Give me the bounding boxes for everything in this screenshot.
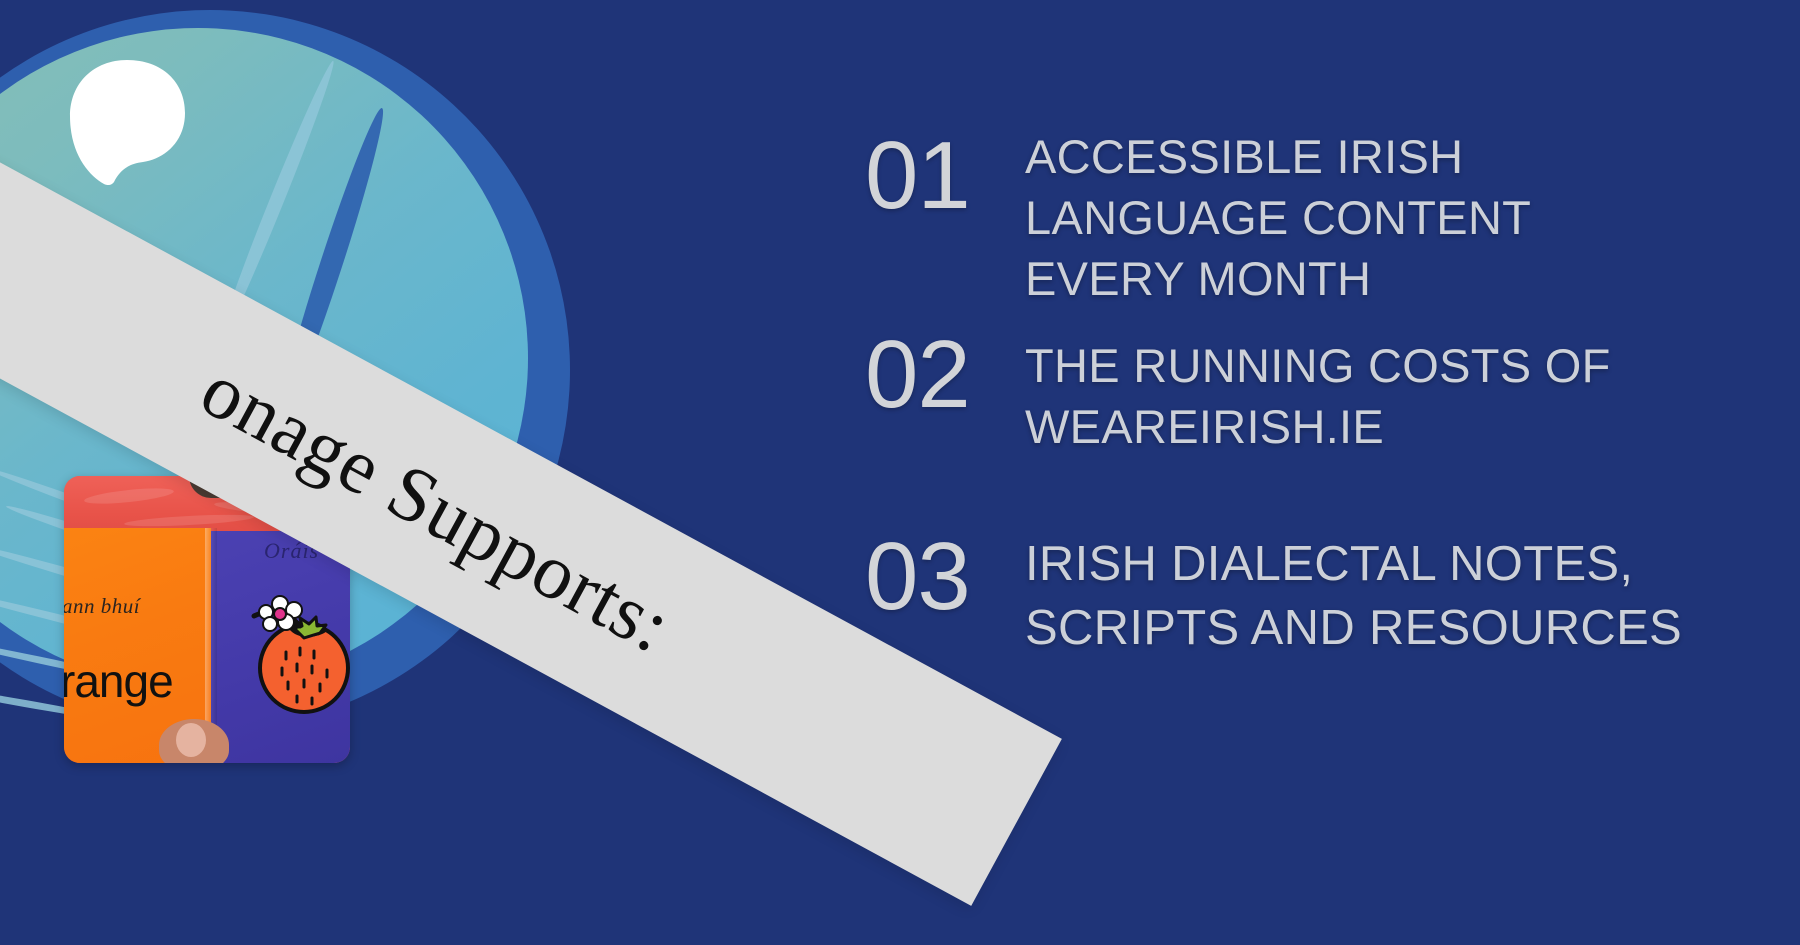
list-item-text: ACCESSIBLE IRISH LANGUAGE CONTENT EVERY … [1025, 118, 1785, 309]
list-item-line: EVERY MONTH [1025, 248, 1785, 309]
list-item-line: IRISH DIALECTAL NOTES, [1025, 533, 1785, 597]
list-item: 02 THE RUNNING COSTS OF WEAREIRISH.IE [865, 327, 1785, 457]
list-item-line: LANGUAGE CONTENT [1025, 187, 1785, 248]
list-item: 03 IRISH DIALECTAL NOTES, SCRIPTS AND RE… [865, 525, 1785, 660]
list-item-number: 02 [865, 327, 1025, 423]
list-item-number: 01 [865, 118, 1025, 224]
list-item-line: THE RUNNING COSTS OF [1025, 335, 1785, 396]
list-item-text: THE RUNNING COSTS OF WEAREIRISH.IE [1025, 327, 1785, 457]
list-item: 01 ACCESSIBLE IRISH LANGUAGE CONTENT EVE… [865, 118, 1785, 309]
orange-illustration [242, 586, 350, 716]
list-item-line: ACCESSIBLE IRISH [1025, 126, 1785, 187]
photo-thumbnail-finger [176, 723, 206, 757]
photo-handwriting-left: ann bhuí [64, 594, 212, 619]
patreon-logo-icon [68, 58, 186, 186]
list-item-line: WEAREIRISH.IE [1025, 396, 1785, 457]
benefits-list: 01 ACCESSIBLE IRISH LANGUAGE CONTENT EVE… [865, 118, 1785, 671]
photo-word-label: range [64, 654, 210, 708]
list-item-text: IRISH DIALECTAL NOTES, SCRIPTS AND RESOU… [1025, 525, 1785, 660]
slide-canvas: ann bhuí Oráis range onage Supports: 01 … [0, 0, 1800, 945]
list-item-number: 03 [865, 525, 1025, 625]
list-item-line: SCRIPTS AND RESOURCES [1025, 597, 1785, 661]
